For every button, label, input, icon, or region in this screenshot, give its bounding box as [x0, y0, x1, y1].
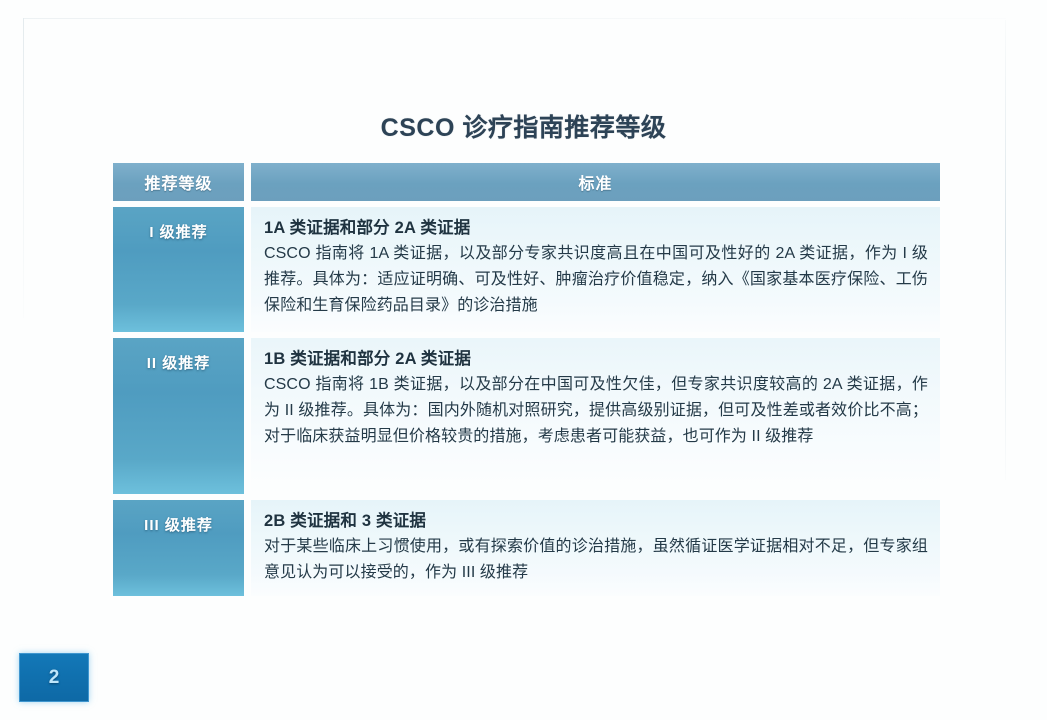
scan-edge-top — [24, 18, 1006, 19]
row-heading-1: 1A 类证据和部分 2A 类证据 — [264, 217, 928, 239]
row-criteria-cell-2: 1B 类证据和部分 2A 类证据 CSCO 指南将 1B 类证据，以及部分在中国… — [251, 338, 940, 494]
page-title: CSCO 诊疗指南推荐等级 — [0, 108, 1047, 144]
table-header-row: 推荐等级 标准 — [113, 163, 940, 201]
row-text-3: 对于某些临床上习惯使用，或有探索价值的诊治措施，虽然循证医学证据相对不足，但专家… — [264, 534, 928, 586]
row-criteria-cell-1: 1A 类证据和部分 2A 类证据 CSCO 指南将 1A 类证据，以及部分专家共… — [251, 207, 940, 332]
scan-edge-left — [23, 18, 24, 318]
row-level-label-2: II 级推荐 — [113, 338, 244, 494]
recommendation-grade-table: 推荐等级 标准 I 级推荐 1A 类证据和部分 2A 类证据 CSCO 指南将 … — [113, 163, 940, 596]
row-level-label-1: I 级推荐 — [113, 207, 244, 332]
row-heading-2: 1B 类证据和部分 2A 类证据 — [264, 348, 928, 370]
row-heading-3: 2B 类证据和 3 类证据 — [264, 510, 928, 532]
table-row: II 级推荐 1B 类证据和部分 2A 类证据 CSCO 指南将 1B 类证据，… — [113, 338, 940, 494]
row-criteria-cell-3: 2B 类证据和 3 类证据 对于某些临床上习惯使用，或有探索价值的诊治措施，虽然… — [251, 500, 940, 596]
column-header-criteria: 标准 — [251, 163, 940, 201]
table-row: I 级推荐 1A 类证据和部分 2A 类证据 CSCO 指南将 1A 类证据，以… — [113, 207, 940, 332]
row-text-1: CSCO 指南将 1A 类证据，以及部分专家共识度高且在中国可及性好的 2A 类… — [264, 241, 928, 319]
scan-edge-right — [1005, 20, 1006, 480]
column-header-level: 推荐等级 — [113, 163, 244, 201]
page-number-badge: 2 — [19, 653, 89, 702]
table-row: III 级推荐 2B 类证据和 3 类证据 对于某些临床上习惯使用，或有探索价值… — [113, 500, 940, 596]
row-text-2: CSCO 指南将 1B 类证据，以及部分在中国可及性欠佳，但专家共识度较高的 2… — [264, 372, 928, 450]
row-level-label-3: III 级推荐 — [113, 500, 244, 596]
